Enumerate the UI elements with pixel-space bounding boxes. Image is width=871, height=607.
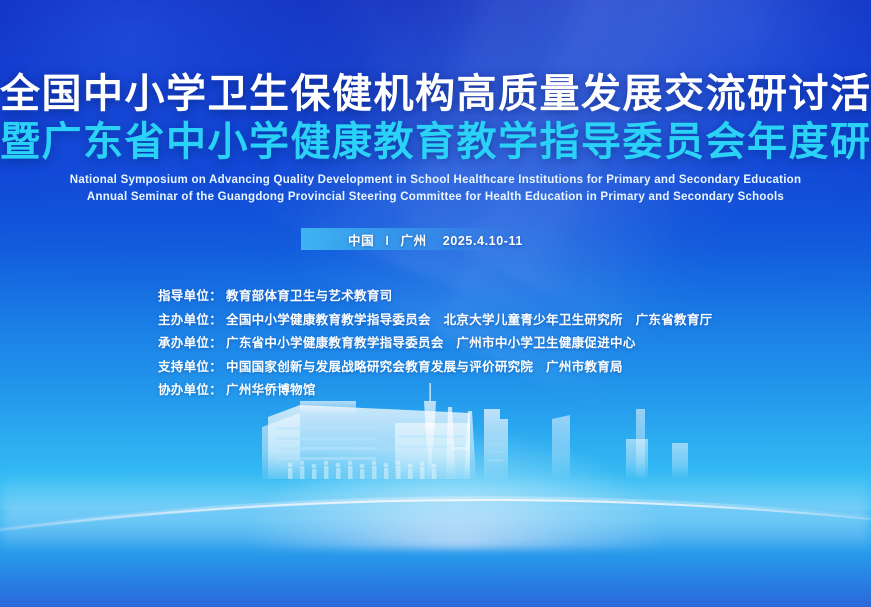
conference-poster: 全国中小学卫生保健机构高质量发展交流研讨活动 暨广东省中小学健康教育教学指导委员…: [0, 0, 871, 607]
organizer-value: 广东省中小学健康教育教学指导委员会 广州市中小学卫生健康促进中心: [226, 337, 636, 350]
poster-subtitle-english-line1: National Symposium on Advancing Quality …: [0, 172, 871, 189]
poster-title-chinese-line1: 全国中小学卫生保健机构高质量发展交流研讨活动: [0, 74, 871, 116]
organizer-value: 广州华侨博物馆: [226, 384, 316, 397]
organizer-row-guidance: 指导单位： 教育部体育卫生与艺术教育司: [158, 290, 712, 303]
poster-subtitle-english-line2: Annual Seminar of the Guangdong Provinci…: [0, 189, 871, 206]
event-bar-text: 中国 I 广州 2025.4.10-11: [348, 230, 523, 249]
high-rise-mid: [552, 415, 570, 479]
event-date: 2025.4.10-11: [443, 234, 523, 248]
organizer-label: 协办单位：: [158, 384, 222, 397]
horizon-arc-graphic: [0, 467, 871, 607]
event-separator: I: [385, 234, 389, 248]
organizer-value: 中国国家创新与发展战略研究会教育发展与评价研究院 广州市教育局: [226, 361, 623, 374]
twin-towers: [446, 407, 476, 479]
organizer-label: 承办单位：: [158, 337, 222, 350]
school-building: [262, 401, 470, 479]
organizer-list: 指导单位： 教育部体育卫生与艺术教育司 主办单位： 全国中小学健康教育教学指导委…: [158, 290, 712, 408]
poster-headline: 全国中小学卫生保健机构高质量发展交流研讨活动 暨广东省中小学健康教育教学指导委员…: [0, 74, 871, 207]
event-bar-container: 中国 I 广州 2025.4.10-11: [0, 228, 871, 250]
organizer-label: 主办单位：: [158, 314, 222, 327]
crowd-figures: [288, 461, 437, 479]
organizer-value: 全国中小学健康教育教学指导委员会 北京大学儿童青少年卫生研究所 广东省教育厅: [226, 314, 712, 327]
organizer-value: 教育部体育卫生与艺术教育司: [226, 290, 392, 303]
organizer-row-organizer: 承办单位： 广东省中小学健康教育教学指导委员会 广州市中小学卫生健康促进中心: [158, 337, 712, 350]
bottom-shading: [0, 487, 871, 607]
event-country: 中国: [348, 234, 374, 248]
center-light-burst: [247, 429, 667, 549]
ground-fog: [0, 475, 871, 545]
poster-subtitle-english: National Symposium on Advancing Quality …: [0, 172, 871, 207]
organizer-row-host: 主办单位： 全国中小学健康教育教学指导委员会 北京大学儿童青少年卫生研究所 广东…: [158, 314, 712, 327]
office-tower: [484, 409, 508, 479]
event-bar: 中国 I 广州 2025.4.10-11: [301, 228, 571, 250]
event-city: 广州: [400, 234, 426, 248]
horizon-arc: [0, 467, 871, 607]
organizer-row-coorganizer: 协办单位： 广州华侨博物馆: [158, 384, 712, 397]
organizer-label: 支持单位：: [158, 361, 222, 374]
organizer-label: 指导单位：: [158, 290, 222, 303]
high-rise-right: [626, 409, 688, 479]
organizer-row-support: 支持单位： 中国国家创新与发展战略研究会教育发展与评价研究院 广州市教育局: [158, 361, 712, 374]
poster-title-chinese-line2: 暨广东省中小学健康教育教学指导委员会年度研讨活动: [0, 122, 871, 164]
